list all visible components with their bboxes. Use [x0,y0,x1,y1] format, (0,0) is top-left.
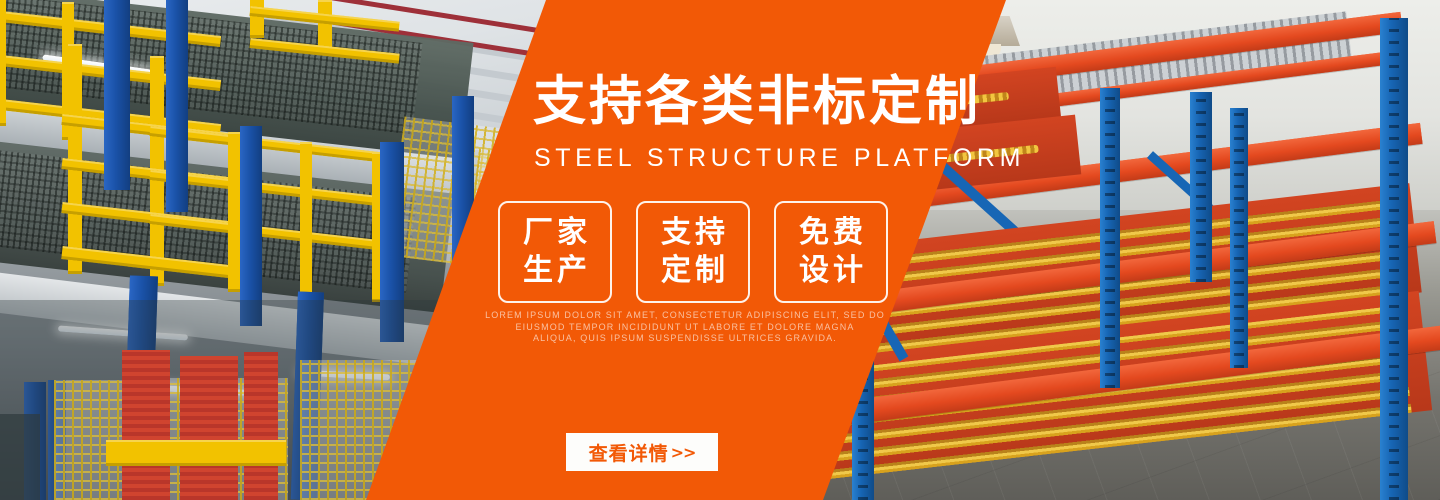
cta-label: 查看详情 [589,439,669,466]
banner-content: 支持各类非标定制 STEEL STRUCTURE PLATFORM 厂家 生产 … [0,0,1440,500]
page-subtitle: STEEL STRUCTURE PLATFORM [534,144,1025,172]
feature-badge-free-design: 免费 设计 [774,201,888,303]
feature-badges: 厂家 生产 支持 定制 免费 设计 [498,201,888,303]
description-line-3: ALIQUA, QUIS IPSUM SUSPENDISSE ULTRICES … [455,333,915,345]
badge-line-2: 设计 [795,252,867,290]
badge-line-1: 免费 [795,214,867,252]
description-line-2: EIUSMOD TEMPOR INCIDIDUNT UT LABORE ET D… [455,322,915,334]
description-line-1: LOREM IPSUM DOLOR SIT AMET, CONSECTETUR … [455,310,915,322]
description-text: LOREM IPSUM DOLOR SIT AMET, CONSECTETUR … [455,310,915,345]
view-details-button[interactable]: 查看详情>> [566,433,718,471]
badge-line-1: 厂家 [519,214,591,252]
promo-banner: 支持各类非标定制 STEEL STRUCTURE PLATFORM 厂家 生产 … [0,0,1440,500]
badge-line-2: 生产 [519,252,591,290]
badge-line-2: 定制 [657,252,729,290]
feature-badge-manufacturer: 厂家 生产 [498,201,612,303]
chevron-right-icon: >> [671,443,696,462]
badge-line-1: 支持 [657,214,729,252]
feature-badge-customization: 支持 定制 [636,201,750,303]
page-title: 支持各类非标定制 [533,72,981,132]
